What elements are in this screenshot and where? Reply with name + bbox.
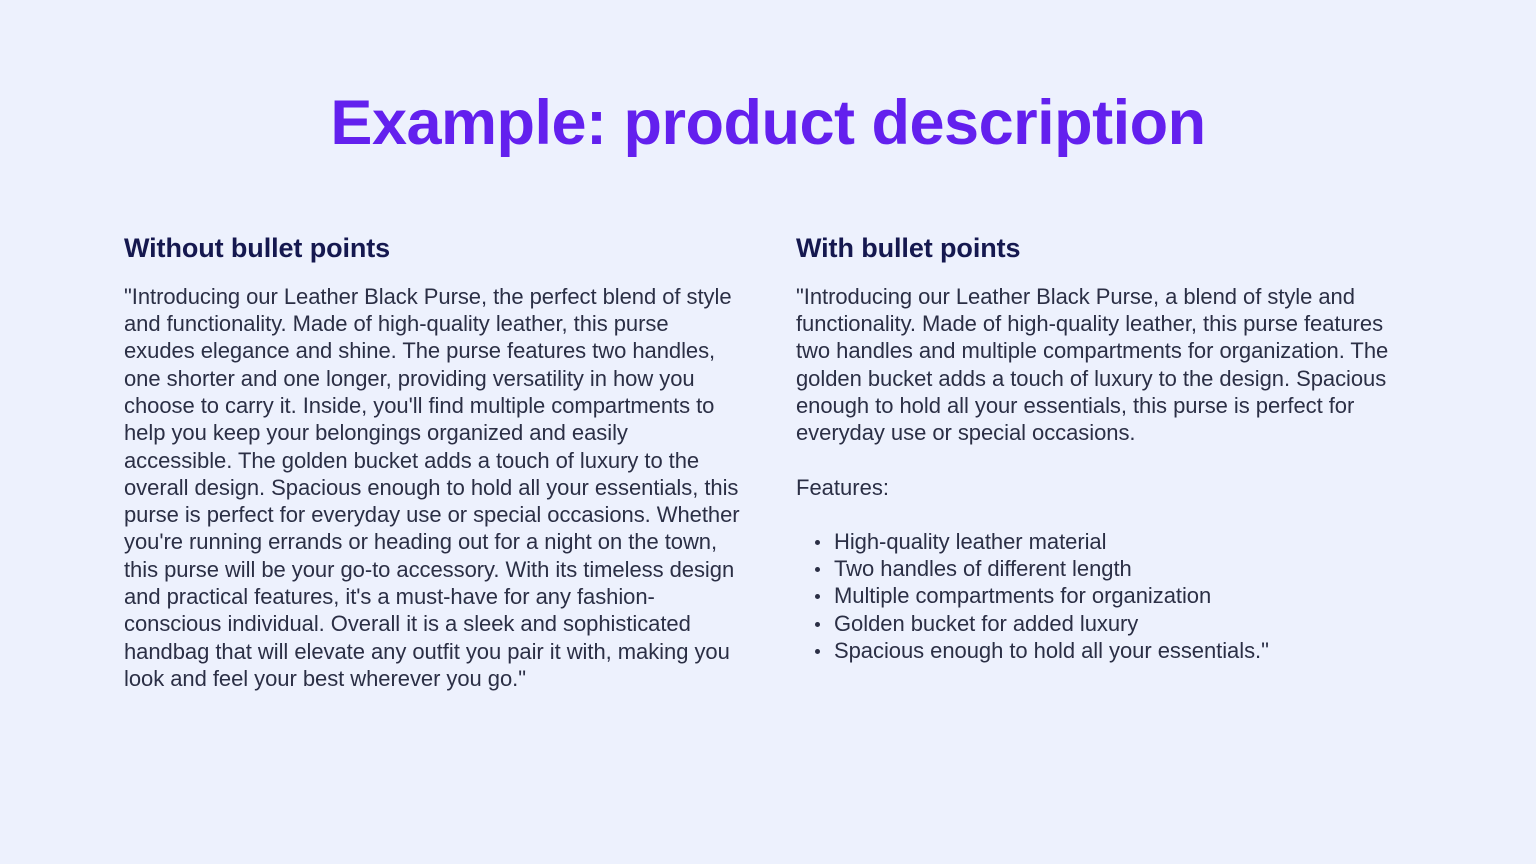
- list-item: Multiple compartments for organization: [796, 582, 1412, 609]
- list-item-label: Multiple compartments for organization: [834, 583, 1211, 608]
- list-item-label: High-quality leather material: [834, 529, 1106, 554]
- list-item: High-quality leather material: [796, 528, 1412, 555]
- with-bullets-paragraph: "Introducing our Leather Black Purse, a …: [796, 283, 1412, 447]
- features-label: Features:: [796, 474, 1412, 501]
- column-with-bullets: With bullet points "Introducing our Leat…: [796, 232, 1412, 664]
- bullet-dot-icon: [815, 567, 820, 572]
- list-item-label: Golden bucket for added luxury: [834, 611, 1138, 636]
- list-item: Spacious enough to hold all your essenti…: [796, 637, 1412, 664]
- list-item-label: Two handles of different length: [834, 556, 1132, 581]
- column-without-bullets: Without bullet points "Introducing our L…: [124, 232, 740, 692]
- bullet-dot-icon: [815, 649, 820, 654]
- bullet-dot-icon: [815, 594, 820, 599]
- paragraph-spacer: [796, 447, 1412, 474]
- with-bullets-heading: With bullet points: [796, 232, 1412, 266]
- comparison-columns: Without bullet points "Introducing our L…: [124, 232, 1412, 692]
- without-bullets-paragraph: "Introducing our Leather Black Purse, th…: [124, 283, 740, 692]
- list-item-label: Spacious enough to hold all your essenti…: [834, 638, 1269, 663]
- features-list: High-quality leather material Two handle…: [796, 528, 1412, 664]
- page-title: Example: product description: [0, 88, 1536, 159]
- without-bullets-heading: Without bullet points: [124, 232, 740, 266]
- slide-root: Example: product description Without bul…: [0, 0, 1536, 864]
- bullet-dot-icon: [815, 540, 820, 545]
- list-item: Two handles of different length: [796, 555, 1412, 582]
- bullet-dot-icon: [815, 622, 820, 627]
- list-item: Golden bucket for added luxury: [796, 610, 1412, 637]
